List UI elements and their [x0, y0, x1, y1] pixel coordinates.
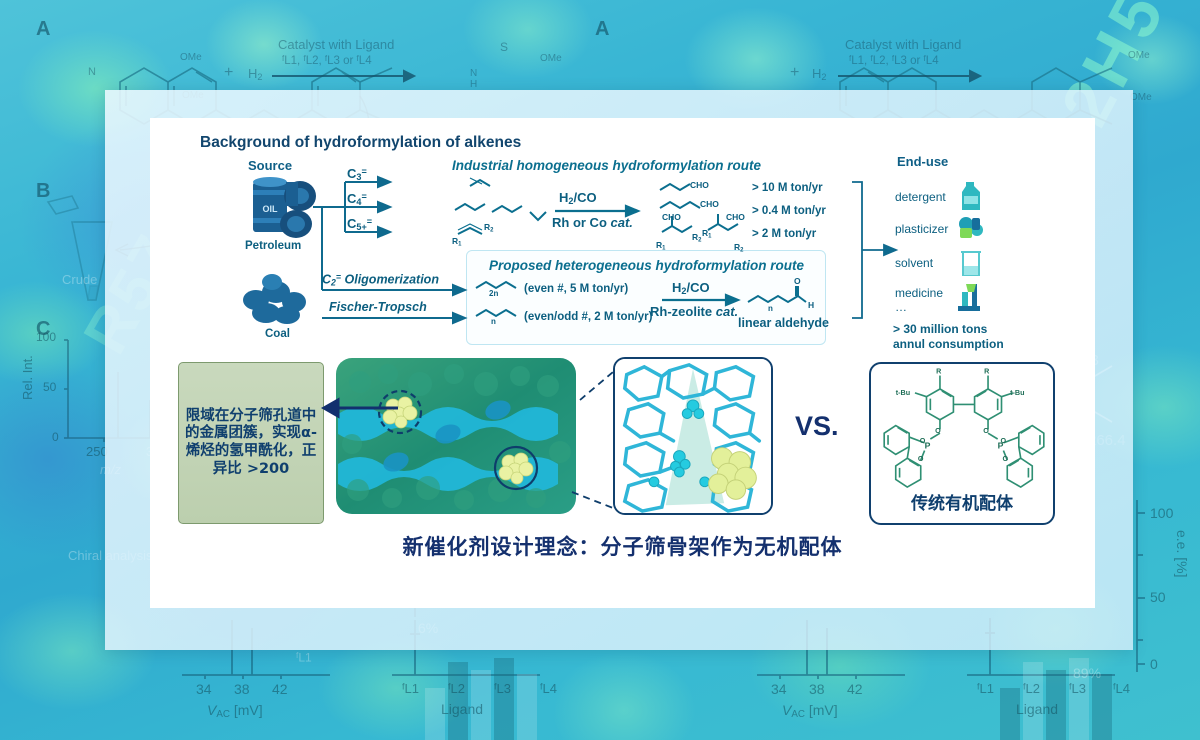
aldehyde-n-label: n: [768, 304, 773, 313]
proposed-conditions-bottom: Rh-zeolite cat.: [650, 304, 738, 319]
background-bar: [1046, 670, 1066, 740]
end-use-label-ellipsis: …: [895, 300, 907, 314]
background-bar: [494, 658, 514, 740]
svg-text:O: O: [918, 454, 924, 463]
background-bar: [471, 670, 491, 740]
background-bar: [1000, 688, 1020, 740]
end-use-label-detergent: detergent: [895, 190, 946, 204]
column-head-end-use: End-use: [897, 154, 948, 169]
background-bar: [1069, 658, 1089, 740]
process-label-oligomerization: C2= Oligomerization: [322, 272, 439, 287]
background-bar: [448, 662, 468, 740]
process-label-fischer-tropsch: Fischer-Tropsch: [329, 300, 427, 314]
reactant-r1-label: R1: [452, 236, 461, 247]
column-head-industrial-route: Industrial homogeneous hydroformylation …: [452, 158, 761, 173]
figure-bottom-caption: 新催化剂设计理念：分子筛骨架作为无机配体: [150, 531, 1095, 561]
organic-ligand-box: R R t-Bu t-Bu O O O O O O P P 传统有机配体: [869, 362, 1055, 525]
green-callout-text: 限域在分子筛孔道中的金属团簇，实现α-烯烃的氢甲酰化，正异比 >200: [185, 408, 317, 479]
consumption-note-line1: > 30 million tons: [893, 322, 987, 336]
proposed-feed-note: (even/odd #, 2 M ton/yr): [524, 311, 652, 323]
column-head-source: Source: [248, 158, 292, 173]
zeolite-atomic-model: [613, 357, 773, 515]
branch-label-c3: C3=: [347, 166, 367, 182]
background-bar: [1023, 662, 1043, 740]
proposed-feed-sub: n: [491, 317, 496, 326]
consumption-note-line2: annul consumption: [893, 337, 1004, 351]
svg-text:O: O: [1002, 454, 1008, 463]
svg-text:R: R: [984, 367, 990, 376]
green-highlight-callout: 限域在分子筛孔道中的金属团簇，实现α-烯烃的氢甲酰化，正异比 >200: [178, 362, 324, 524]
proposed-conditions-top: H2/CO: [672, 280, 710, 296]
product-r2-label: R2: [734, 242, 743, 253]
figure-title: Background of hydroformylation of alkene…: [200, 134, 521, 152]
vs-label: VS.: [795, 411, 839, 442]
svg-text:R: R: [936, 367, 942, 376]
industrial-conditions-top: H2/CO: [559, 190, 597, 206]
capacity-label: > 2 M ton/yr: [752, 228, 816, 240]
svg-text:P: P: [998, 441, 1004, 451]
branch-label-c4: C4=: [347, 191, 367, 207]
end-use-label-plasticizer: plasticizer: [895, 222, 948, 236]
product-cho-label: CHO: [690, 180, 709, 190]
svg-text:P: P: [925, 441, 931, 451]
ligand-box-caption: 传统有机配体: [871, 489, 1053, 514]
product-r1-label: R1: [702, 228, 711, 239]
source-label-coal: Coal: [265, 328, 290, 340]
svg-text:t-Bu: t-Bu: [1010, 388, 1024, 397]
branch-label-c5: C5+=: [347, 216, 372, 232]
background-bar: [517, 674, 537, 740]
proposed-feed-note: (even #, 5 M ton/yr): [524, 283, 628, 295]
proposed-product-label: linear aldehyde: [738, 316, 829, 330]
proposed-feed-sub: 2n: [489, 289, 498, 298]
reactant-r2-label: R2: [484, 222, 493, 233]
product-r1-label: R1: [656, 240, 665, 251]
product-r2-label: R2: [692, 232, 701, 243]
industrial-conditions-bottom: Rh or Co cat.: [552, 215, 633, 230]
aldehyde-o-label: O: [794, 276, 801, 286]
capacity-label: > 0.4 M ton/yr: [752, 205, 826, 217]
zeolite-framework-illustration: [330, 352, 582, 520]
capacity-label: > 10 M ton/yr: [752, 182, 823, 194]
product-cho-label: CHO: [662, 212, 681, 222]
source-label-petroleum: Petroleum: [245, 240, 301, 252]
end-use-label-medicine: medicine: [895, 286, 943, 300]
svg-text:O: O: [983, 426, 989, 435]
end-use-label-solvent: solvent: [895, 256, 933, 270]
biphosphite-ligand-structure: R R t-Bu t-Bu O O O O O O P P: [871, 364, 1057, 489]
product-cho-label: CHO: [726, 212, 745, 222]
background-bar: [1092, 674, 1112, 740]
background-bar: [425, 688, 445, 740]
svg-text:O: O: [935, 426, 941, 435]
aldehyde-h-label: H: [808, 300, 814, 310]
product-cho-label: CHO: [700, 199, 719, 209]
svg-text:t-Bu: t-Bu: [896, 388, 910, 397]
proposed-route-heading: Proposed heterogeneous hydroformylation …: [489, 258, 804, 273]
